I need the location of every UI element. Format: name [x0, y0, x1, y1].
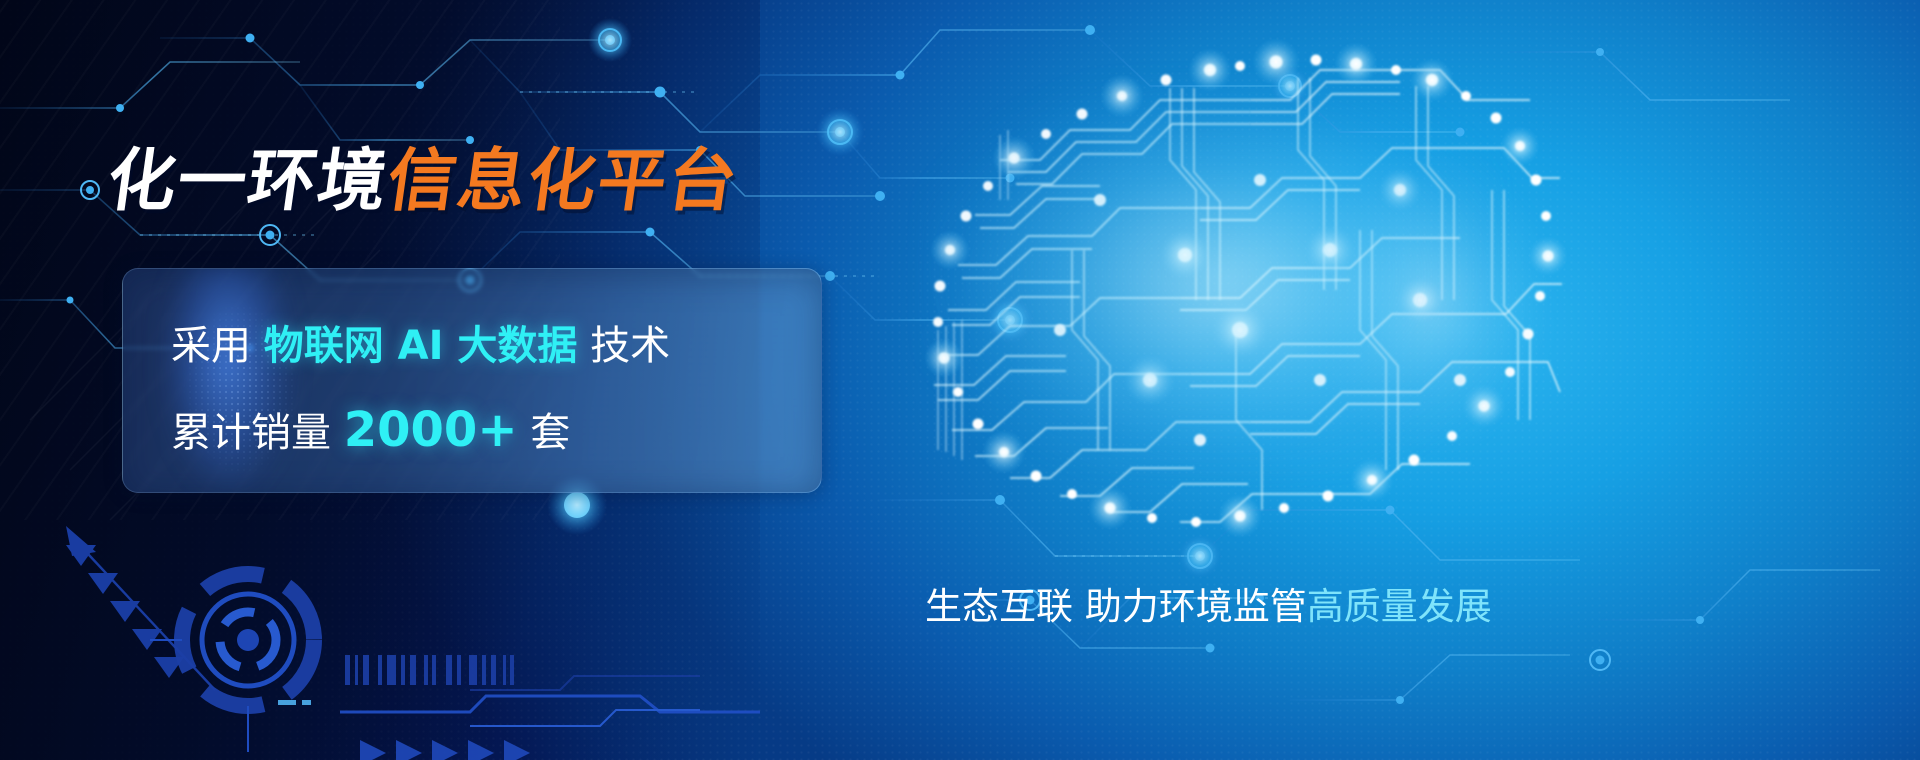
tech-suffix-label: 技术: [590, 323, 670, 369]
feature-line-sales: 累计销量 2000+ 套: [171, 406, 570, 454]
sales-prefix-label: 累计销量: [171, 410, 331, 456]
sales-count-value: 2000+: [344, 402, 518, 458]
tagline-white: 生态互联 助力环境监管: [925, 585, 1307, 628]
tagline-cyan: 高质量发展: [1307, 585, 1492, 628]
headline-white: 化一环境: [103, 142, 394, 221]
hud-ribbon-decoration: [278, 676, 760, 760]
feature-card: 采用 物联网 AI 大数据 技术 累计销量 2000+ 套: [122, 268, 822, 493]
tech-highlight-label: 物联网 AI 大数据: [264, 323, 578, 369]
tech-prefix-label: 采用: [171, 323, 251, 369]
promo-banner: 化一环境信息化平台 采用 物联网 AI 大数据 技术 累计销量 2000+ 套 …: [0, 0, 1920, 760]
page-title: 化一环境信息化平台: [103, 148, 743, 216]
chevron-arrow-decoration: [66, 526, 215, 690]
headline-orange: 信息化平台: [383, 142, 744, 221]
feature-line-technology: 采用 物联网 AI 大数据 技术: [171, 326, 670, 366]
sales-suffix-label: 套: [530, 410, 570, 456]
hud-radar-decoration: [150, 574, 314, 752]
ai-brain-circuit-graphic: [906, 38, 1568, 539]
banner-tagline: 生态互联 助力环境监管高质量发展: [925, 588, 1492, 625]
barcode-decoration: [345, 655, 514, 685]
brain-glow-overlay: [880, 55, 1540, 485]
